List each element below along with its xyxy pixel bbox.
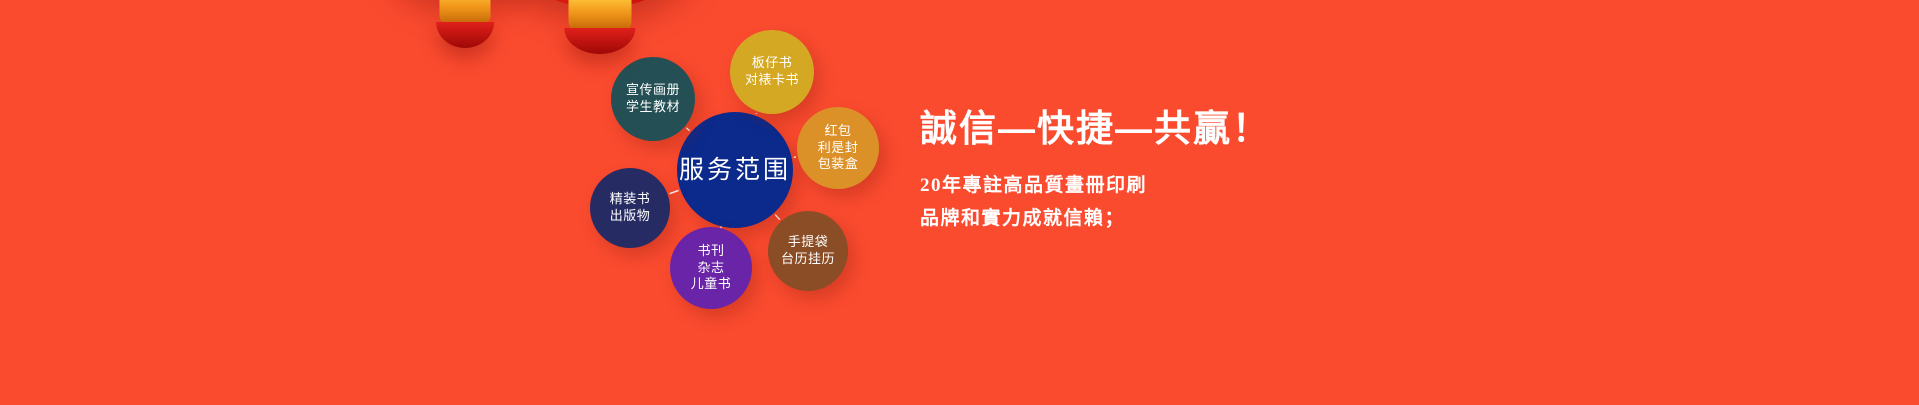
connector-line [686,128,689,131]
bubble-hardcover-publication[interactable]: 精装书出版物 [590,168,670,248]
slogan-headline: 誠信—快捷—共贏！ [920,108,1620,151]
bubble-label-line: 手提袋 [788,234,829,251]
bubble-label-line: 杂志 [697,260,724,277]
bubble-label-line: 学生教材 [626,99,680,116]
bubble-label-line: 出版物 [610,208,651,225]
bubble-board-book[interactable]: 板仔书对裱卡书 [730,30,814,114]
bubble-label-line: 儿童书 [691,276,732,293]
slogan-block: 誠信—快捷—共贏！ 20年專註高品質畫冊印刷 品牌和實力成就信賴； [920,108,1620,235]
bubble-red-envelope[interactable]: 红包利是封包装盒 [797,107,879,189]
bubble-label-line: 对裱卡书 [745,72,799,89]
slogan-subtext-line-1: 20年專註高品質畫冊印刷 [920,169,1620,202]
bubble-label-line: 书刊 [697,243,724,260]
bubble-label-line: 宣传画册 [626,82,680,99]
bubble-center-service-scope[interactable]: 服务范围 [677,112,793,228]
connector-line [669,190,678,193]
slogan-subtext: 20年專註高品質畫冊印刷 品牌和實力成就信賴； [920,169,1620,236]
bubble-center-label: 服务范围 [679,154,791,186]
bubble-promo-textbook[interactable]: 宣传画册学生教材 [611,57,695,141]
new-year-service-banner: 福 福 [0,0,1919,405]
slogan-subtext-line-2: 品牌和實力成就信賴； [920,202,1620,235]
bubble-label-line: 板仔书 [752,55,793,72]
bubble-label-line: 红包 [824,123,851,140]
bubble-label-line: 利是封 [818,140,859,157]
bubble-journal-magazine[interactable]: 书刊杂志儿童书 [670,227,752,309]
bubble-handbag-calendar[interactable]: 手提袋台历挂历 [768,211,848,291]
connector-line [775,215,780,220]
bubble-label-line: 精装书 [610,191,651,208]
bubble-label-line: 台历挂历 [781,251,835,268]
bubble-label-line: 包装盒 [818,156,859,173]
